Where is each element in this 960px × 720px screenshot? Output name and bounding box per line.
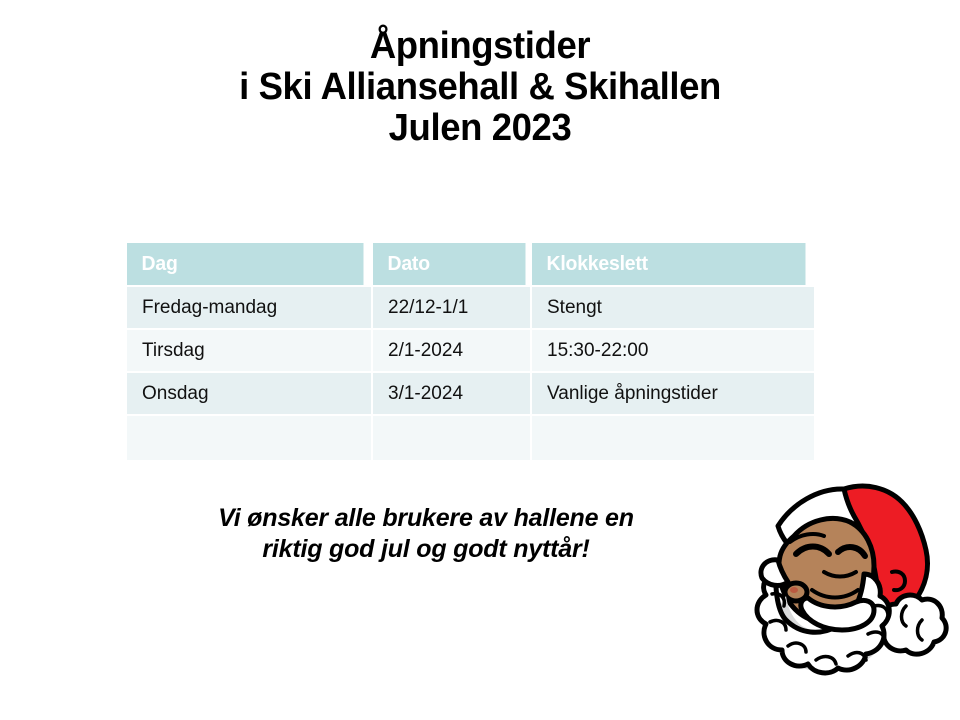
- greeting-line-2: riktig god jul og godt nyttår!: [96, 534, 756, 565]
- title-line-3: Julen 2023: [19, 108, 941, 149]
- santa-nose-highlight: [790, 587, 798, 593]
- santa-claus-icon: [716, 464, 960, 680]
- cell-klokkeslett: Vanlige åpningstider: [531, 372, 814, 415]
- opening-hours-table: Dag Dato Klokkeslett Fredag-mandag 22/12…: [127, 243, 814, 462]
- page-title: Åpningstider i Ski Alliansehall & Skihal…: [0, 26, 960, 149]
- table-row: Tirsdag 2/1-2024 15:30-22:00: [127, 329, 814, 372]
- column-header-dag: Dag: [127, 243, 365, 286]
- cell-dag: Tirsdag: [127, 329, 372, 372]
- cell-dato: [372, 415, 531, 461]
- table-row-empty: [127, 415, 814, 461]
- cell-klokkeslett: Stengt: [531, 286, 814, 329]
- greeting-line-1: Vi ønsker alle brukere av hallene en: [96, 503, 756, 534]
- table-header: Dag Dato Klokkeslett: [127, 243, 814, 286]
- column-header-klokkeslett: Klokkeslett: [531, 243, 806, 286]
- cell-dato: 22/12-1/1: [372, 286, 531, 329]
- santa-claus-illustration: [716, 464, 960, 680]
- cell-dato: 2/1-2024: [372, 329, 531, 372]
- table-row: Fredag-mandag 22/12-1/1 Stengt: [127, 286, 814, 329]
- table-header-row: Dag Dato Klokkeslett: [127, 243, 814, 286]
- cell-dato: 3/1-2024: [372, 372, 531, 415]
- cell-dag: [127, 415, 372, 461]
- cell-klokkeslett: [531, 415, 814, 461]
- cell-klokkeslett: 15:30-22:00: [531, 329, 814, 372]
- table-body: Fredag-mandag 22/12-1/1 Stengt Tirsdag 2…: [127, 286, 814, 461]
- greeting-message: Vi ønsker alle brukere av hallene en rik…: [96, 503, 756, 565]
- title-line-2: i Ski Alliansehall & Skihallen: [19, 67, 941, 108]
- cell-dag: Fredag-mandag: [127, 286, 372, 329]
- cell-dag: Onsdag: [127, 372, 372, 415]
- column-header-dato: Dato: [372, 243, 526, 286]
- title-line-1: Åpningstider: [19, 26, 941, 67]
- table-row: Onsdag 3/1-2024 Vanlige åpningstider: [127, 372, 814, 415]
